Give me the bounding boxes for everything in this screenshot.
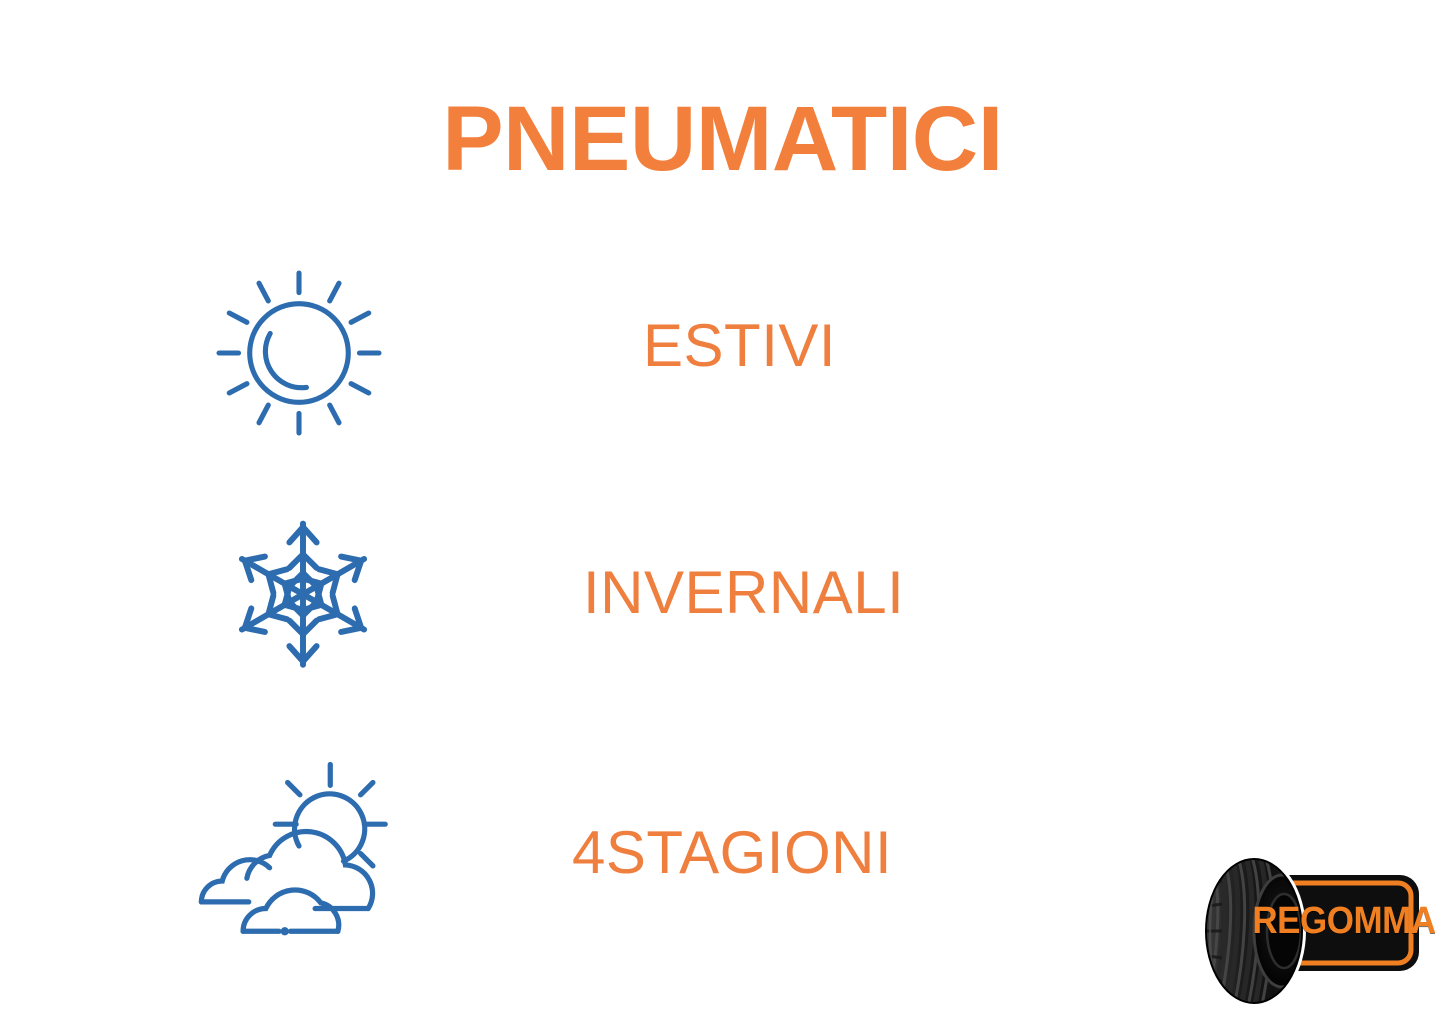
category-label-estivi: ESTIVI (643, 316, 836, 376)
poster-canvas: PNEUMATICI (0, 0, 1445, 1022)
category-row-estivi: ESTIVI (0, 250, 1445, 450)
category-label-4stagioni: 4STAGIONI (572, 823, 892, 883)
category-label-invernali: INVERNALI (583, 563, 904, 623)
sun-behind-clouds-icon (190, 755, 408, 947)
regomma-logo[interactable]: REGOMMA (1196, 855, 1431, 1013)
sun-icon (206, 260, 392, 446)
page-title: PNEUMATICI (0, 93, 1445, 185)
snowflake-icon (218, 505, 388, 685)
category-row-invernali: INVERNALI (0, 495, 1445, 695)
logo-graphic (1196, 855, 1431, 1013)
